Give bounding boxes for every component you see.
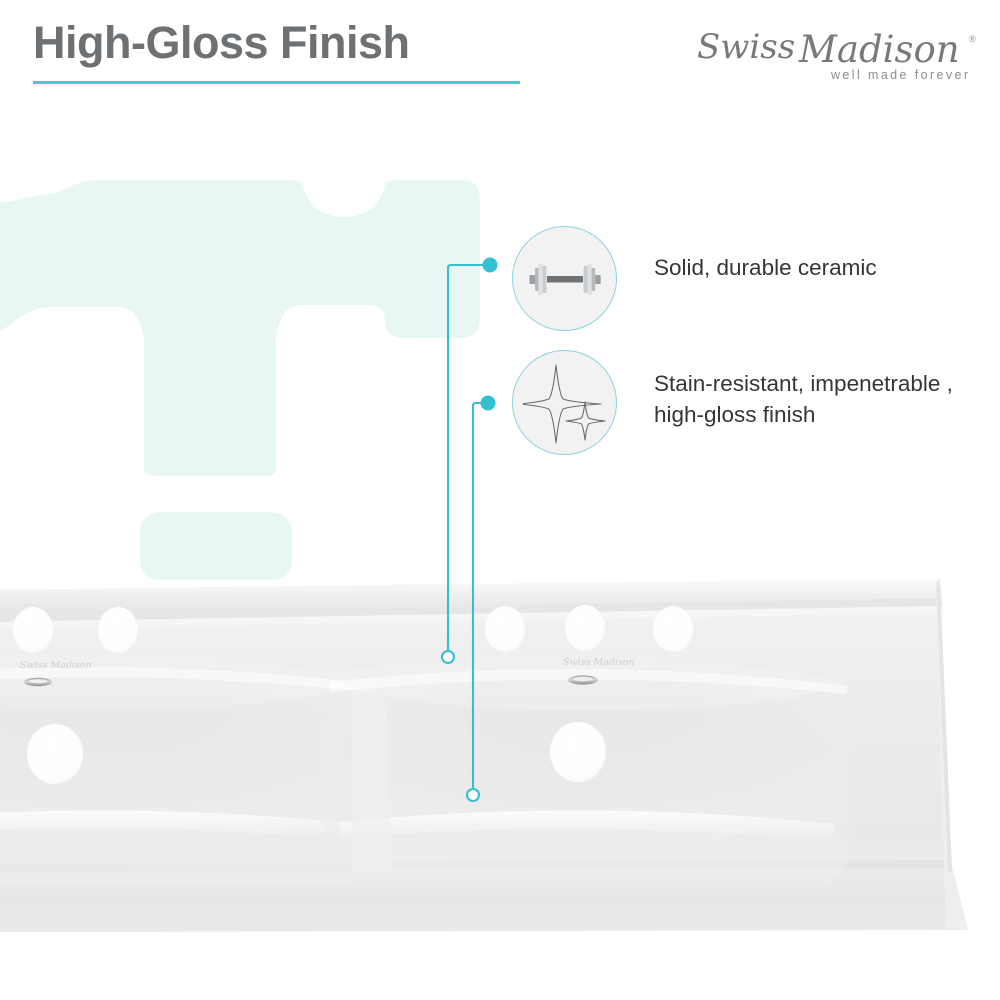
embossed-logo-left: Swiss Madison [20, 660, 92, 671]
svg-text:Swiss Madison: Swiss Madison [563, 657, 635, 668]
page-title: High-Gloss Finish [33, 20, 410, 65]
feature-label-1: Solid, durable ceramic [654, 226, 877, 283]
feature-item-stain-resistant-high-gloss: Stain-resistant, impenetrable , high-glo… [512, 350, 953, 455]
dumbbell-icon [525, 256, 605, 302]
feature-badge-2 [512, 350, 617, 455]
faucet-hole-left-1 [13, 607, 53, 653]
brand-tagline: well made forever [830, 68, 970, 82]
feature-badge-1 [512, 226, 617, 331]
product-photo-vanity-top: Swiss Madison Swiss Madison [0, 572, 1000, 936]
swiss-madison-logo: Swiss Madison ® well made forever [697, 24, 980, 84]
hammer-watermark-icon [0, 150, 520, 590]
feature-label-2: Stain-resistant, impenetrable , high-glo… [654, 350, 953, 430]
basin-drain-right [550, 722, 606, 782]
embossed-logo-right: Swiss Madison [563, 657, 635, 668]
registered-trademark-icon: ® [969, 34, 976, 44]
faucet-hole-right-2 [565, 605, 605, 651]
basin-left [0, 654, 372, 886]
brand-word-madison: Madison [798, 28, 960, 71]
faucet-hole-right-3 [653, 606, 693, 652]
feature-item-solid-durable-ceramic: Solid, durable ceramic [512, 226, 877, 331]
svg-text:Swiss Madison: Swiss Madison [20, 660, 92, 671]
title-underline-accent [33, 81, 520, 84]
infographic-canvas: High-Gloss Finish Swiss Madison ® well m… [0, 0, 1000, 1000]
faucet-hole-right-1 [485, 606, 525, 652]
faucet-hole-left-2 [98, 607, 138, 653]
leader-start-dot-2 [481, 396, 496, 411]
leader-start-dot-1 [483, 258, 498, 273]
basin-right [322, 657, 850, 888]
basin-drain-left [27, 724, 83, 784]
brand-word-swiss: Swiss [697, 27, 795, 67]
sparkle-icon [523, 361, 607, 445]
